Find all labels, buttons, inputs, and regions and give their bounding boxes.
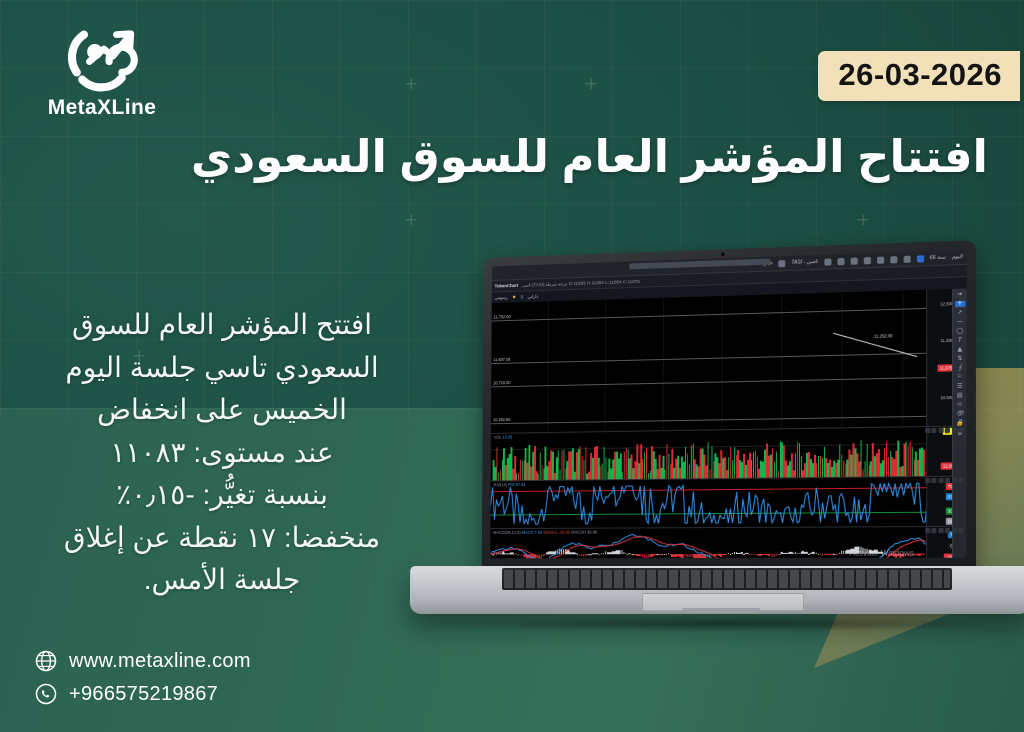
body-line: جلسة الأمس. — [36, 559, 408, 602]
phone-text: +966575219867 — [69, 683, 218, 706]
titlebar-symbol[interactable]: TASI - تاسي — [791, 259, 818, 266]
laptop-device: خيارات متقدمة TASI - تاسي سنة 66 اليوم T… — [410, 248, 1024, 648]
drawing-tool-label[interactable]: رسومي — [495, 294, 508, 300]
grid-plus-icon: + — [856, 212, 870, 229]
indicators-icon[interactable] — [877, 256, 884, 263]
rsi-label: RSI(14) RSI 57.81 — [493, 482, 525, 487]
body-line: عند مستوى: ١١٠٨٣ — [36, 432, 408, 475]
bell-icon[interactable]: ● — [512, 294, 515, 300]
website-text: www.metaxline.com — [69, 650, 251, 673]
search-icon[interactable] — [824, 258, 831, 265]
volume-label: VOL 13.05 — [494, 435, 513, 440]
date-badge: 26-03-2026 — [818, 51, 1020, 101]
app-brand: TokenChart — [495, 283, 519, 289]
alert-icon[interactable] — [890, 256, 897, 263]
snapshot-icon[interactable] — [916, 255, 923, 262]
website-row[interactable]: www.metaxline.com — [34, 649, 251, 673]
price-level-label: 11,607.00 — [493, 357, 510, 362]
price-level-label: 11,752.00 — [493, 314, 510, 319]
chart-panes: 11,752.00 11,607.00 10,716.00 10,292.50 … — [490, 288, 966, 558]
body-line: بنسبة تغيُّر: -٠٫١٥٪ — [36, 474, 408, 517]
body-line: الخميس على انخفاض — [36, 389, 408, 432]
magnet-icon[interactable]: ♾ — [957, 402, 963, 408]
body-line: منخفضا: ١٧ نقطة عن إغلاق — [36, 517, 408, 560]
horizontal-line-icon[interactable]: — — [957, 319, 963, 325]
laptop-shadow — [440, 616, 1000, 632]
globe-icon — [34, 649, 58, 673]
grid-plus-icon: + — [404, 76, 418, 93]
titlebar-menu-day[interactable]: اليوم — [952, 254, 962, 260]
settings-icon[interactable] — [903, 255, 910, 262]
abc-icon[interactable]: 𝄞 — [958, 365, 962, 371]
whatsapp-row[interactable]: +966575219867 — [34, 682, 251, 706]
titlebar-menu-year[interactable]: سنة 66 — [930, 254, 946, 261]
flag-icon[interactable]: ⚐ — [957, 374, 962, 380]
forecast-icon[interactable]: ▤ — [957, 393, 963, 399]
lock-icon[interactable]: 🔒 — [956, 420, 964, 426]
cursor-icon[interactable]: ➔ — [957, 292, 962, 298]
undo-icon[interactable] — [837, 257, 844, 264]
body-line: افتتح المؤشر العام للسوق — [36, 304, 408, 347]
trendline-label: 11,252.00 — [874, 333, 893, 339]
shapes-icon[interactable]: ◯ — [956, 328, 963, 334]
drawing-toolbar[interactable]: ➔ + ↗ — ◯ T ▲ ⇅ 𝄞 ⚐ ☰ ▤ ♾ 👁 🔒 — [952, 288, 967, 558]
poster-canvas: + + + + + MetaXLine 26-03-2026 افتتاح ال… — [0, 0, 1024, 732]
brand-logo: MetaXLine — [27, 22, 177, 120]
footer-contact: www.metaxline.com +966575219867 — [34, 640, 251, 706]
pane-controls[interactable] — [925, 528, 964, 533]
ohlc-readout: تاسي [TASI] نبرعة شرطة O:11083 H:11084 L… — [522, 278, 640, 288]
laptop-lid: خيارات متقدمة TASI - تاسي سنة 66 اليوم T… — [482, 240, 976, 570]
grid-plus-icon: + — [404, 212, 418, 229]
redo-icon[interactable] — [850, 257, 857, 264]
eye-icon[interactable]: 👁 — [956, 411, 964, 417]
watermark-title: Activate Windows — [845, 549, 919, 558]
rsi-pane[interactable]: RSI(14) RSI 57.81 70.0000 57.8115 30.000… — [490, 477, 966, 530]
compare-icon[interactable]: ☰ — [957, 384, 963, 390]
volume-pane[interactable]: VOL 13.05 500M 12,053.7M — [491, 426, 967, 481]
patterns-icon[interactable]: ▲ — [957, 347, 962, 353]
laptop-screen: خيارات متقدمة TASI - تاسي سنة 66 اليوم T… — [490, 250, 966, 559]
laptop-open-notch — [682, 608, 760, 613]
grid-plus-icon: + — [584, 76, 598, 93]
titlebar-icon[interactable] — [778, 260, 785, 267]
windows-activation-watermark: Activate Windows Go to Settings to activ… — [845, 549, 919, 559]
webcam-icon — [721, 252, 725, 256]
brand-name: MetaXLine — [27, 96, 177, 120]
measure-icon[interactable]: ⇅ — [957, 356, 962, 362]
alerts-count: 3 — [520, 294, 522, 299]
laptop-keyboard — [502, 568, 952, 590]
pane-controls[interactable] — [925, 427, 964, 433]
upward-arrow-circle-logo-icon — [56, 22, 148, 94]
trendline-icon[interactable]: ↗ — [957, 310, 962, 316]
price-pane[interactable]: 11,752.00 11,607.00 10,716.00 10,292.50 … — [491, 288, 967, 434]
layout-icon[interactable] — [863, 257, 870, 264]
price-level-label: 10,292.50 — [493, 417, 510, 422]
body-line: السعودي تاسي جلسة اليوم — [36, 347, 408, 390]
price-level-label: 10,716.00 — [493, 380, 510, 385]
whatsapp-icon — [34, 682, 58, 706]
rsi-series — [490, 477, 966, 529]
text-icon[interactable]: T — [958, 338, 962, 344]
portfolio-label[interactable]: داراتي — [527, 293, 538, 299]
macd-label: MACD(26,12,9) MACD 7.63 SIGNAL -29.35 MA… — [493, 530, 597, 535]
page-title: افتتاح المؤشر العام للسوق السعودي — [108, 129, 988, 185]
crosshair-icon[interactable]: + — [955, 301, 965, 307]
pane-controls[interactable] — [925, 478, 964, 483]
body-text: افتتح المؤشر العام للسوق السعودي تاسي جل… — [36, 304, 408, 602]
volume-bar — [923, 450, 925, 476]
